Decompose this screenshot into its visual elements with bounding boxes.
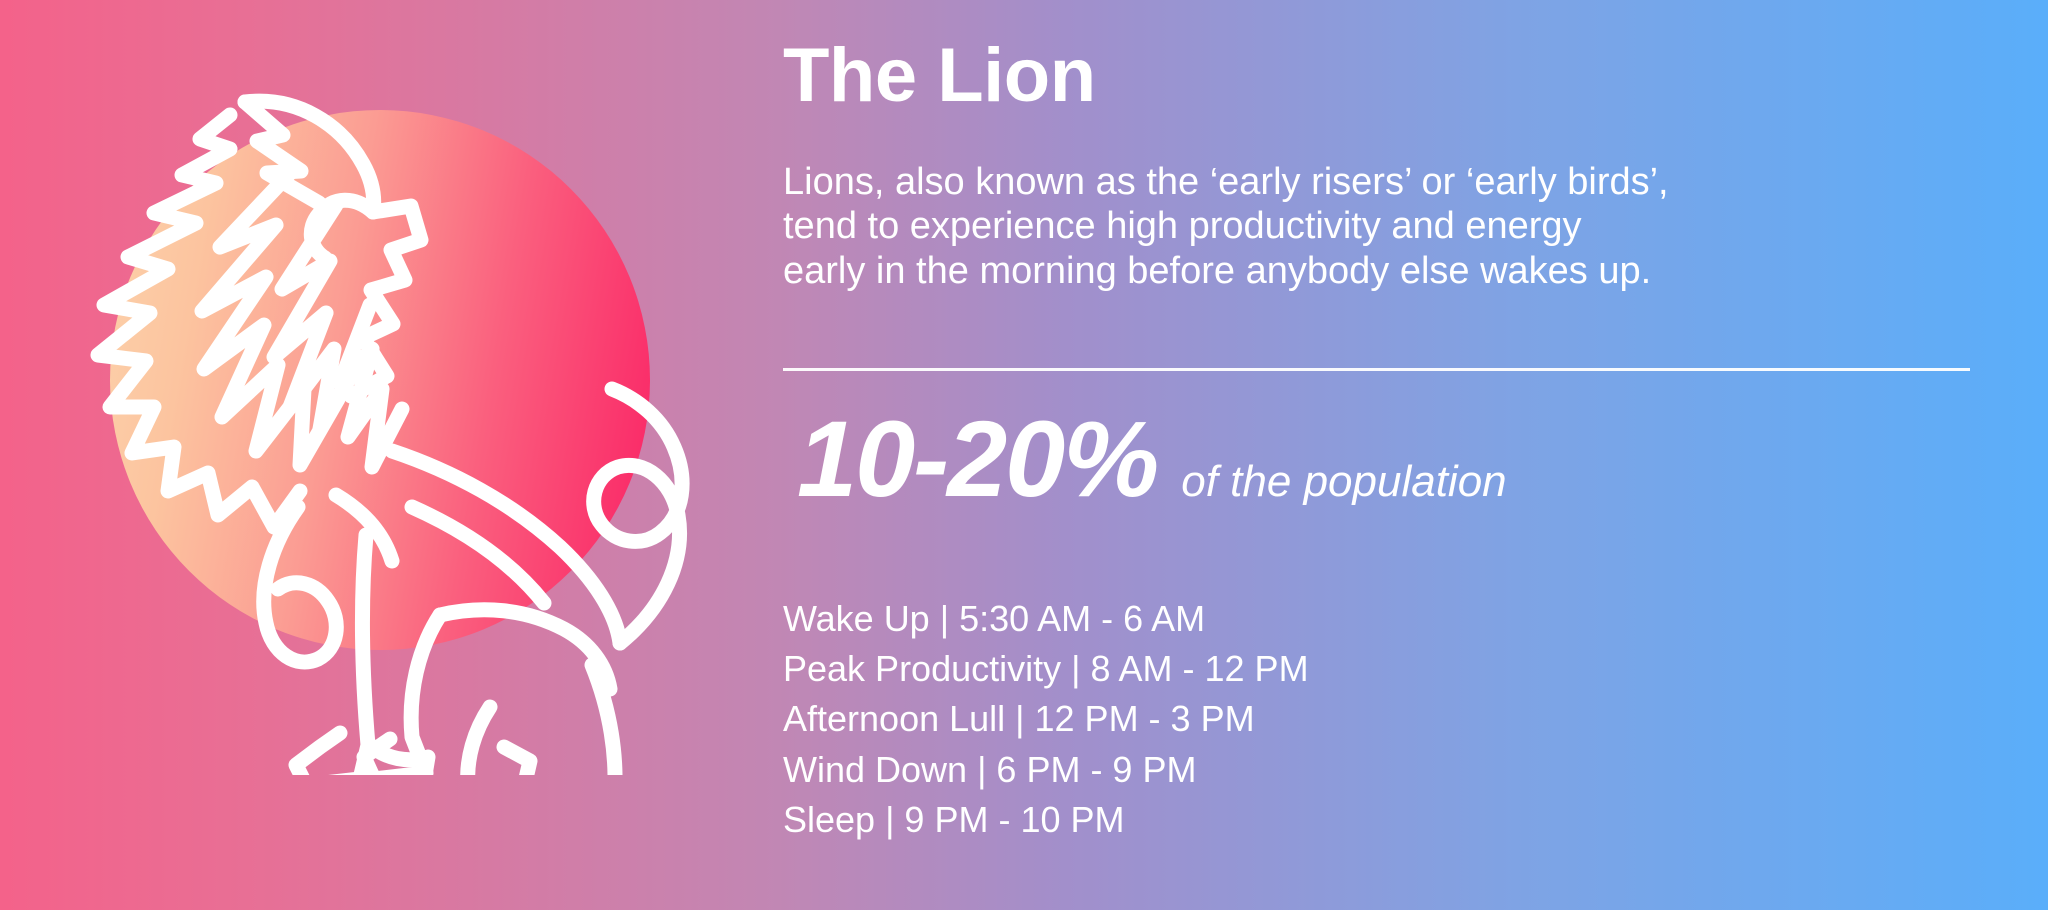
stat-value: 10-20% [797,405,1157,513]
section-divider [783,368,1970,371]
lion-icon [40,55,700,775]
list-item: Wind Down | 6 PM - 9 PM [783,748,1309,791]
description-line-2: tend to experience high productivity and… [783,204,1883,248]
content-panel: The Lion Lions, also known as the ‘early… [783,0,1998,910]
list-item: Afternoon Lull | 12 PM - 3 PM [783,697,1309,740]
illustration-panel [0,0,760,910]
daily-schedule-list: Wake Up | 5:30 AM - 6 AM Peak Productivi… [783,597,1309,848]
description-line-3: early in the morning before anybody else… [783,249,1883,293]
population-stat: 10-20% of the population [797,405,1507,513]
description-line-1: Lions, also known as the ‘early risers’ … [783,160,1883,204]
page-title: The Lion [783,38,1096,114]
list-item: Wake Up | 5:30 AM - 6 AM [783,597,1309,640]
description-text: Lions, also known as the ‘early risers’ … [783,160,1883,293]
stat-suffix: of the population [1181,460,1506,504]
list-item: Peak Productivity | 8 AM - 12 PM [783,647,1309,690]
chronotype-lion-card: The Lion Lions, also known as the ‘early… [0,0,2048,910]
list-item: Sleep | 9 PM - 10 PM [783,798,1309,841]
